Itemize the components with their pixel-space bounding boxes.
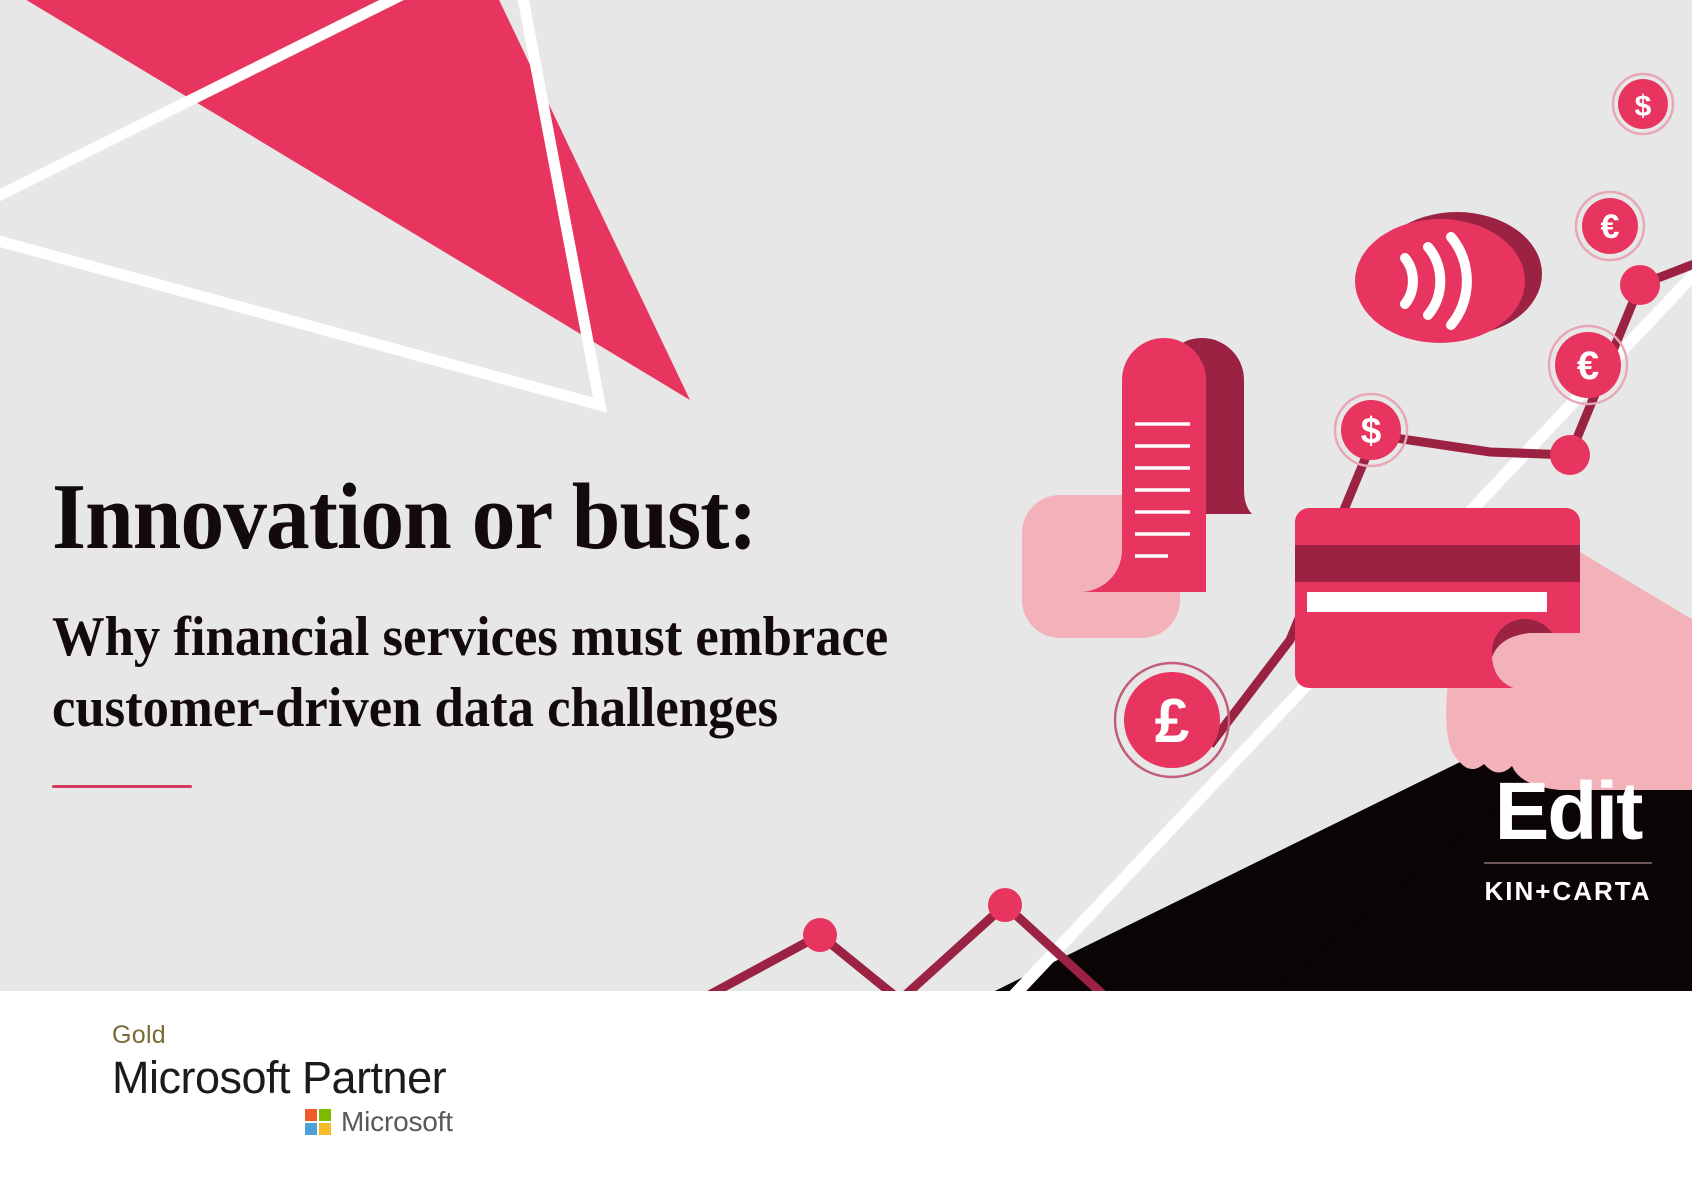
edit-wordmark: Edit [1478,773,1658,850]
microsoft-wordmark: Microsoft [341,1106,453,1138]
chart-node [1620,265,1660,305]
credit-card-magstripe [1295,545,1580,582]
report-cover-page: $ € € $ £ I [0,0,1692,1196]
chart-node [988,888,1022,922]
kin-carta-lockup: KIN+CARTA [1478,876,1658,907]
microsoft-square-green-icon [319,1109,331,1121]
svg-text:£: £ [1155,687,1189,756]
svg-text:€: € [1577,344,1599,388]
microsoft-partner-badge: Gold Microsoft Partner [112,1023,446,1101]
edit-kincarta-logo: Edit KIN+CARTA [1478,773,1658,907]
page-title: Innovation or bust: [52,470,1038,564]
receipt-body-fill [1122,380,1206,592]
chart-node [1550,435,1590,475]
coin-pound: £ [1115,663,1229,777]
subtitle-line-1: Why financial services must embrace [52,602,1048,673]
footer-band: Gold Microsoft Partner Microsoft [0,991,1692,1196]
svg-text:$: $ [1361,410,1382,451]
coin-dollar-top-right: $ [1613,74,1673,134]
microsoft-brand-lockup: Microsoft [305,1106,453,1138]
page-subtitle: Why financial services must embrace cust… [52,602,1048,743]
coin-euro-lower: € [1549,326,1627,404]
chart-node [803,918,837,952]
microsoft-logo-icon [305,1109,331,1135]
svg-text:$: $ [1635,90,1652,123]
logo-divider [1484,862,1652,864]
microsoft-square-yellow-icon [319,1123,331,1135]
coin-dollar-middle: $ [1335,394,1407,466]
hand-thumb [1492,633,1660,690]
hero-band: $ € € $ £ I [0,0,1692,991]
partner-title-label: Microsoft Partner [112,1054,446,1101]
microsoft-square-blue-icon [305,1123,317,1135]
title-divider-rule [52,785,192,788]
subtitle-line-2: customer-driven data challenges [52,673,1048,744]
partner-tier-label: Gold [112,1023,446,1048]
svg-text:€: € [1601,208,1620,246]
contactless-payment-icon [1355,212,1542,343]
credit-card-signature-strip [1307,592,1547,612]
coin-euro-upper: € [1576,192,1644,260]
microsoft-square-red-icon [305,1109,317,1121]
headline-block: Innovation or bust: Why financial servic… [52,470,1112,788]
